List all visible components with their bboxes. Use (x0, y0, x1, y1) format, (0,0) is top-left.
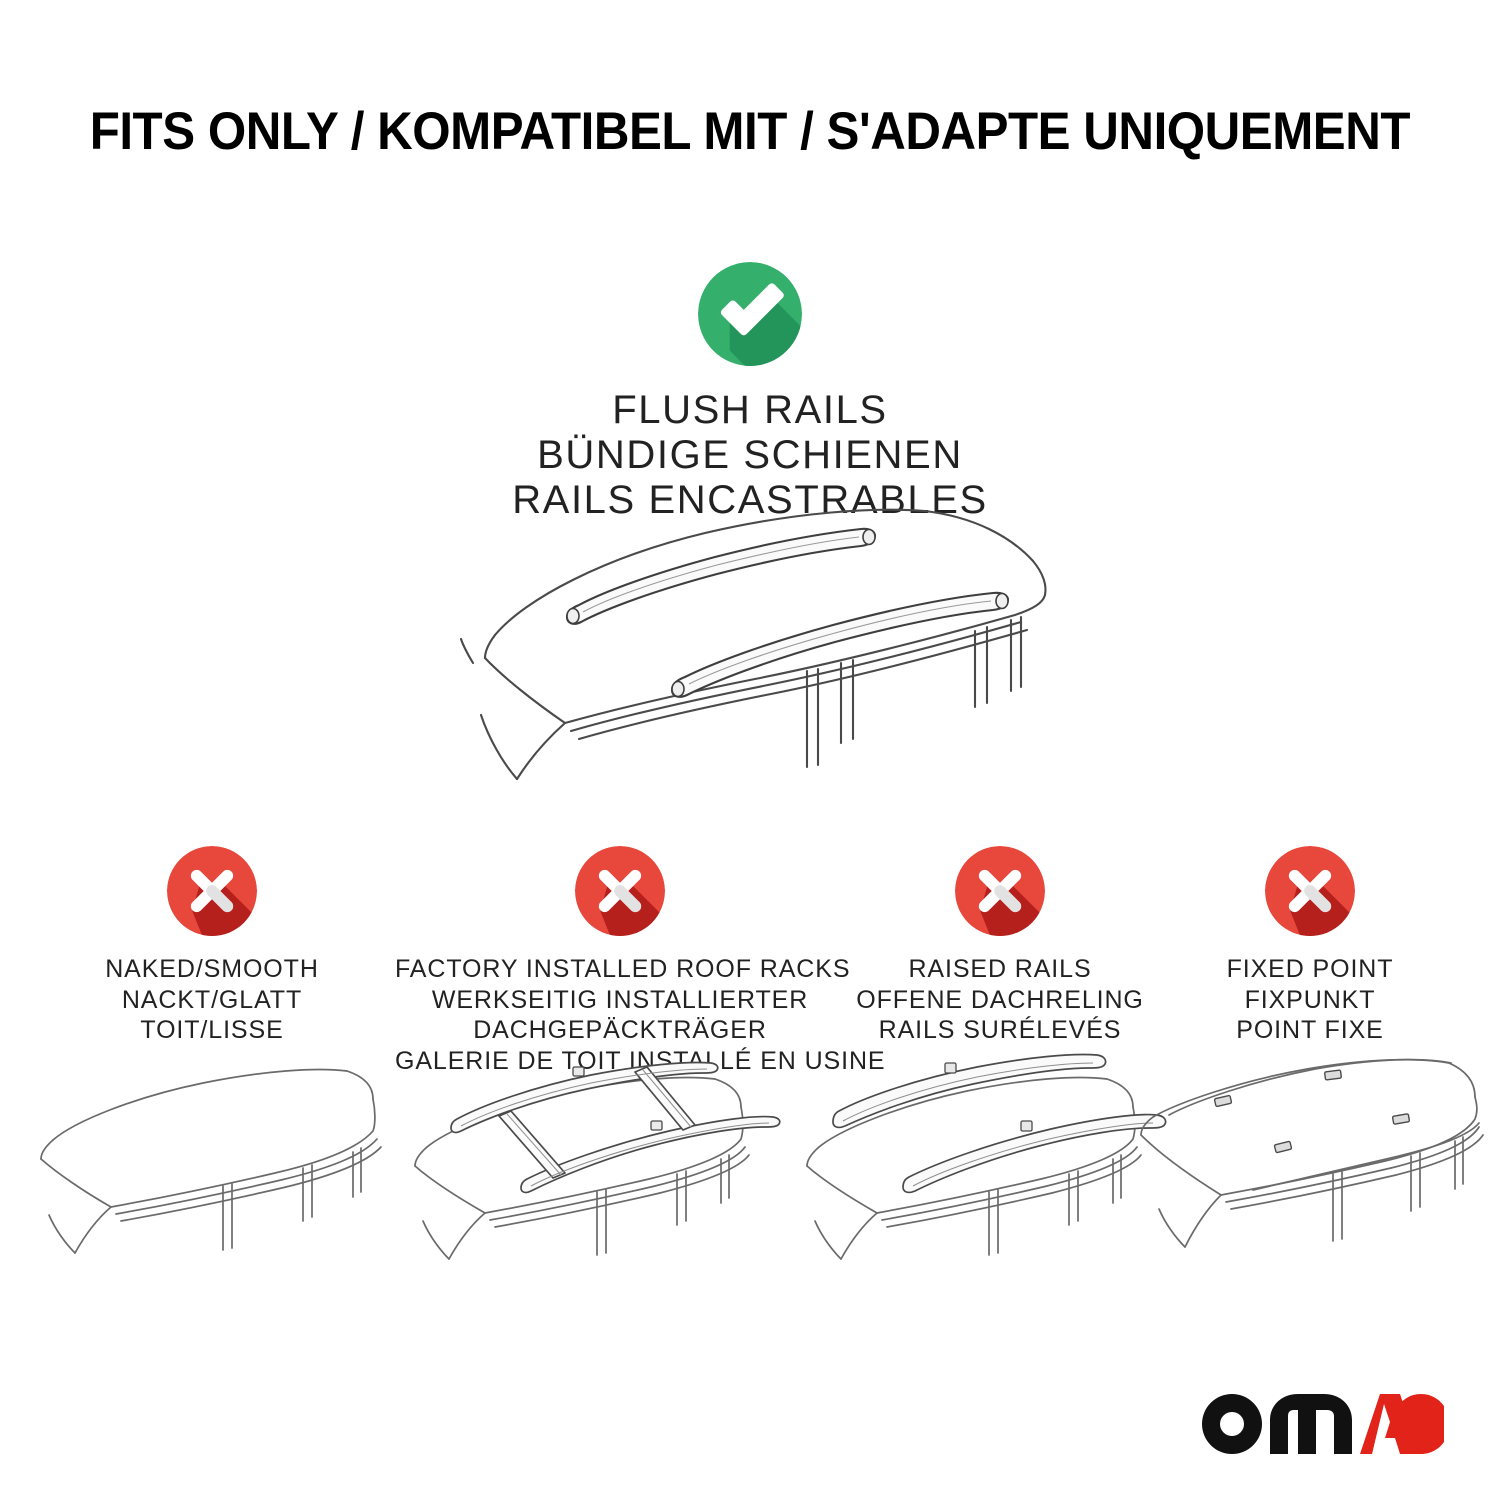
page-title-text: FITS ONLY / KOMPATIBEL MIT / S'ADAPTE UN… (90, 104, 1410, 160)
compatible-section: FLUSH RAILS BÜNDIGE SCHIENEN RAILS ENCAS… (0, 262, 1500, 524)
incompatible-illustration-row (0, 1055, 1500, 1305)
x-circle-icon (955, 846, 1045, 936)
incompatible-section: NAKED/SMOOTH NACKT/GLATT TOIT/LISSE (0, 846, 1500, 1056)
caption-line-de: NACKT/GLATT (47, 985, 377, 1016)
caption-line-en: FIXED POINT (1160, 954, 1460, 985)
caption-line-en: FACTORY INSTALLED ROOF RACKS (395, 954, 845, 985)
incompatible-item-raised-rails: RAISED RAILS OFFENE DACHRELING RAILS SUR… (830, 846, 1170, 1046)
omac-logo (1194, 1388, 1444, 1460)
x-circle-icon (575, 846, 665, 936)
check-circle-icon (698, 262, 802, 366)
caption-line-de: OFFENE DACHRELING (830, 985, 1170, 1016)
incompatible-item-fixed-point: FIXED POINT FIXPUNKT POINT FIXE (1160, 846, 1460, 1046)
page-title: FITS ONLY / KOMPATIBEL MIT / S'ADAPTE UN… (0, 104, 1500, 160)
incompatible-caption: RAISED RAILS OFFENE DACHRELING RAILS SUR… (830, 954, 1170, 1046)
x-circle-icon (167, 846, 257, 936)
car-roof-bare-illustration (35, 1055, 405, 1305)
caption-line-de: FIXPUNKT (1160, 985, 1460, 1016)
x-circle-icon (1265, 846, 1355, 936)
caption-line-en: NAKED/SMOOTH (47, 954, 377, 985)
incompatible-caption: NAKED/SMOOTH NACKT/GLATT TOIT/LISSE (47, 954, 377, 1046)
compatible-line-en: FLUSH RAILS (0, 388, 1500, 433)
caption-line-fr: POINT FIXE (1160, 1015, 1460, 1046)
caption-line-fr: RAILS SURÉLEVÉS (830, 1015, 1170, 1046)
caption-line-de-2: DACHGEPÄCKTRÄGER (395, 1015, 845, 1046)
incompatible-item-factory-installed-roof-racks: FACTORY INSTALLED ROOF RACKS WERKSEITIG … (395, 846, 845, 1076)
caption-line-de-1: WERKSEITIG INSTALLIERTER (395, 985, 845, 1016)
incompatible-item-naked-smooth: NAKED/SMOOTH NACKT/GLATT TOIT/LISSE (47, 846, 377, 1046)
compatible-line-de: BÜNDIGE SCHIENEN (0, 433, 1500, 478)
car-roof-factory-racks-illustration (405, 1055, 775, 1305)
car-roof-raised-rails-illustration (795, 1055, 1165, 1305)
caption-line-en: RAISED RAILS (830, 954, 1170, 985)
caption-line-fr: TOIT/LISSE (47, 1015, 377, 1046)
flush-rails-illustration (455, 495, 1055, 795)
car-roof-fixed-point-illustration (1135, 1055, 1500, 1305)
incompatible-caption: FIXED POINT FIXPUNKT POINT FIXE (1160, 954, 1460, 1046)
